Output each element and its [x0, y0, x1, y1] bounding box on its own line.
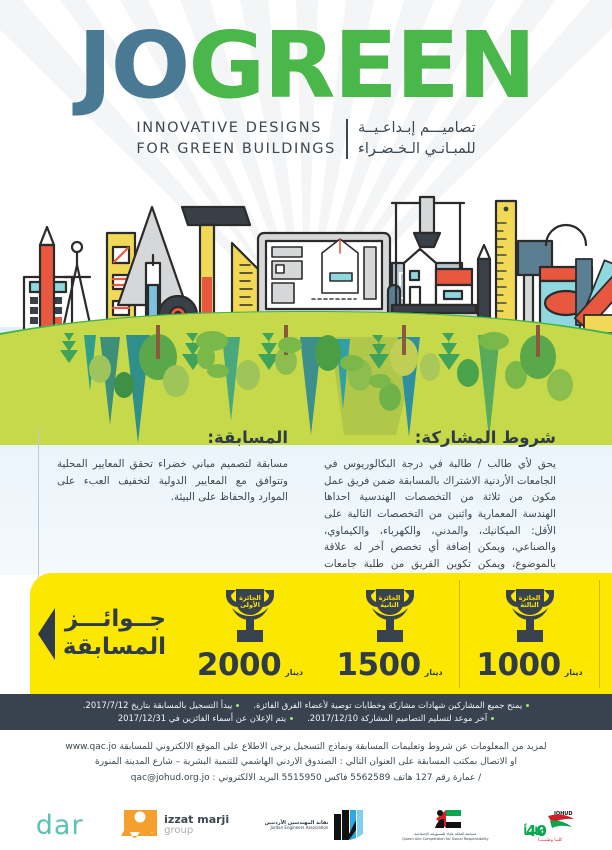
- note-item: يبدأ التسجيل بالمسابقة بتاريخ 2017/7/12.: [83, 699, 240, 712]
- izzat-marji-wordmark: izzat marji group: [164, 814, 229, 836]
- rank-line2: الثانية: [358, 602, 422, 609]
- dar-wordmark: dar: [36, 810, 84, 841]
- trophy-icon-first: الجائزة الأولى: [218, 586, 282, 646]
- prize-amount-second: 1500 دينار: [336, 647, 442, 683]
- prize-item-third: الجائزة الثالثة 1000 دينار: [460, 580, 600, 688]
- svg-text:عاماً: عاماً: [524, 823, 546, 838]
- prize-amount-first: 2000 دينار: [197, 647, 303, 683]
- logo-johud: JOHUD 40 عاماً كلنـا وطـنـنــا: [524, 808, 576, 842]
- prizes-banner: جــوائـــز المسابقة الجائزة الأولى: [30, 573, 612, 695]
- tagline-ar-line1: تصاميـــم إبـداعـيــة: [358, 118, 476, 139]
- notes-band: يمنح جميع المشاركين شهادات مشاركة وخطابا…: [0, 694, 612, 730]
- competition-body: مسابقة لتصميم مباني خضراء تحقق المعايير …: [57, 456, 288, 506]
- prize-amount-number: 2000: [197, 647, 281, 683]
- rank-line2: الثالثة: [498, 602, 562, 609]
- contact-line-1: لمزيد من المعلومات عن شروط وتعليمات المس…: [0, 740, 612, 755]
- logo-jordan-engineers-association: نقابة المهندسين الأردنيين Jordan Enginee…: [265, 808, 367, 842]
- note-text: يمنح جميع المشاركين شهادات مشاركة وخطابا…: [253, 699, 522, 712]
- competition-column: المسابقة: مسابقة لتصميم مباني خضراء تحقق…: [38, 428, 306, 589]
- bullet-dot-icon: [236, 704, 239, 707]
- logo-izzat-marji: izzat marji group: [119, 810, 229, 840]
- izzat-line2: group: [164, 826, 229, 837]
- trophy-label-first: الجائزة الأولى: [218, 595, 282, 610]
- wordmark-green: GREEN: [188, 12, 534, 119]
- trophy-icon-third: الجائزة الثالثة: [498, 586, 562, 646]
- jea-english: Jordan Engineers Association: [265, 826, 329, 831]
- tagline-en-line1: INNOVATIVE DESIGNS: [136, 118, 336, 139]
- contact-block: لمزيد من المعلومات عن شروط وتعليمات المس…: [0, 740, 612, 786]
- conditions-column: شروط المشاركة: يحق لأي طالب / طالبة في د…: [306, 428, 574, 589]
- izzat-marji-mark-icon: [119, 810, 159, 840]
- qac-english-caption: Queen Alia Competition for Social Respon…: [402, 837, 489, 841]
- wordmark: JOGREEN: [0, 22, 612, 110]
- rank-line2: الأولى: [218, 602, 282, 609]
- contact-line-3: / عمارة رقم 127 هاتف 5562589 فاكس 551595…: [0, 771, 612, 786]
- tagline-lockup: INNOVATIVE DESIGNS FOR GREEN BUILDINGS ت…: [0, 118, 612, 160]
- prize-item-first: الجائزة الأولى 2000 دينار: [180, 580, 320, 688]
- trophy-label-third: الجائزة الثالثة: [498, 595, 562, 610]
- poster-root: JOGREEN INNOVATIVE DESIGNS FOR GREEN BUI…: [0, 0, 612, 850]
- svg-text:كلنـا وطـنـنــا: كلنـا وطـنـنــا: [538, 837, 563, 842]
- logo-dar: dar: [36, 810, 84, 841]
- notes-line-1: يمنح جميع المشاركين شهادات مشاركة وخطابا…: [22, 699, 590, 712]
- note-text: آخر موعد لتسليم التصاميم المشاركة 2017/1…: [307, 712, 487, 725]
- bullet-dot-icon: [526, 704, 529, 707]
- prize-currency: دينار: [425, 668, 443, 677]
- prizes-title-line1: جــوائـــز: [63, 606, 166, 634]
- jea-mark-icon: [332, 808, 366, 842]
- tagline-divider: [346, 119, 348, 159]
- bullet-dot-icon: [290, 717, 293, 720]
- contact-line-2: او الاتصال بمكتب المسابقة على العنوان ال…: [0, 755, 612, 770]
- prize-amount-number: 1500: [336, 647, 420, 683]
- trophy-label-second: الجائزة الثانية: [358, 595, 422, 610]
- notes-line-2: آخر موعد لتسليم التصاميم المشاركة 2017/1…: [22, 712, 590, 725]
- conditions-body: يحق لأي طالب / طالبة في درجة البكالوريوس…: [324, 456, 556, 589]
- qac-arabic-caption: مسابقة الملكة علياء للمسؤولية الإجتماعية: [414, 832, 476, 836]
- note-text: يتم الإعلان عن أسماء الفائزين في 2017/12…: [118, 712, 286, 725]
- prize-amount-number: 1000: [476, 647, 560, 683]
- footer-logo-row: dar izzat marji group نقابة المهندسين: [0, 800, 612, 850]
- prizes-title-group: جــوائـــز المسابقة: [30, 606, 180, 661]
- prize-item-second: الجائزة الثانية 1500 دينار: [320, 580, 460, 688]
- note-item: يتم الإعلان عن أسماء الفائزين في 2017/12…: [118, 712, 293, 725]
- conditions-heading: شروط المشاركة:: [324, 428, 556, 447]
- izzat-line1: izzat marji: [164, 814, 229, 826]
- left-arrow-icon: [38, 608, 55, 660]
- prizes-title: جــوائـــز المسابقة: [63, 606, 166, 661]
- tagline-en-line2: FOR GREEN BUILDINGS: [136, 139, 336, 160]
- logo-queen-alia-competition: مسابقة الملكة علياء للمسؤولية الإجتماعية…: [402, 809, 489, 842]
- tagline-ar-line2: للمبـانـي الـخـضـراء: [358, 139, 476, 160]
- note-text: يبدأ التسجيل بالمسابقة بتاريخ 2017/7/12.: [83, 699, 233, 712]
- cityscape-illustration: [0, 185, 612, 445]
- prize-amount-third: 1000 دينار: [476, 647, 582, 683]
- brand-logo-block: JOGREEN INNOVATIVE DESIGNS FOR GREEN BUI…: [0, 22, 612, 160]
- wordmark-jo: JO: [78, 12, 189, 119]
- note-item: يمنح جميع المشاركين شهادات مشاركة وخطابا…: [253, 699, 529, 712]
- competition-heading: المسابقة:: [57, 428, 288, 447]
- queen-alia-mark-icon: [428, 809, 462, 831]
- prizes-title-line2: المسابقة: [63, 634, 166, 662]
- tagline-english: INNOVATIVE DESIGNS FOR GREEN BUILDINGS: [136, 118, 336, 160]
- prize-currency: دينار: [565, 668, 583, 677]
- info-text-columns: المسابقة: مسابقة لتصميم مباني خضراء تحقق…: [0, 428, 612, 589]
- tagline-arabic: تصاميـــم إبـداعـيــة للمبـانـي الـخـضـر…: [358, 118, 476, 160]
- bullet-dot-icon: [491, 717, 494, 720]
- prize-currency: دينار: [285, 668, 303, 677]
- jea-wordmark: نقابة المهندسين الأردنيين Jordan Enginee…: [265, 820, 329, 831]
- trophy-icon-second: الجائزة الثانية: [358, 586, 422, 646]
- johud-40-years-icon: JOHUD 40 عاماً كلنـا وطـنـنــا: [524, 808, 576, 842]
- note-item: آخر موعد لتسليم التصاميم المشاركة 2017/1…: [307, 712, 494, 725]
